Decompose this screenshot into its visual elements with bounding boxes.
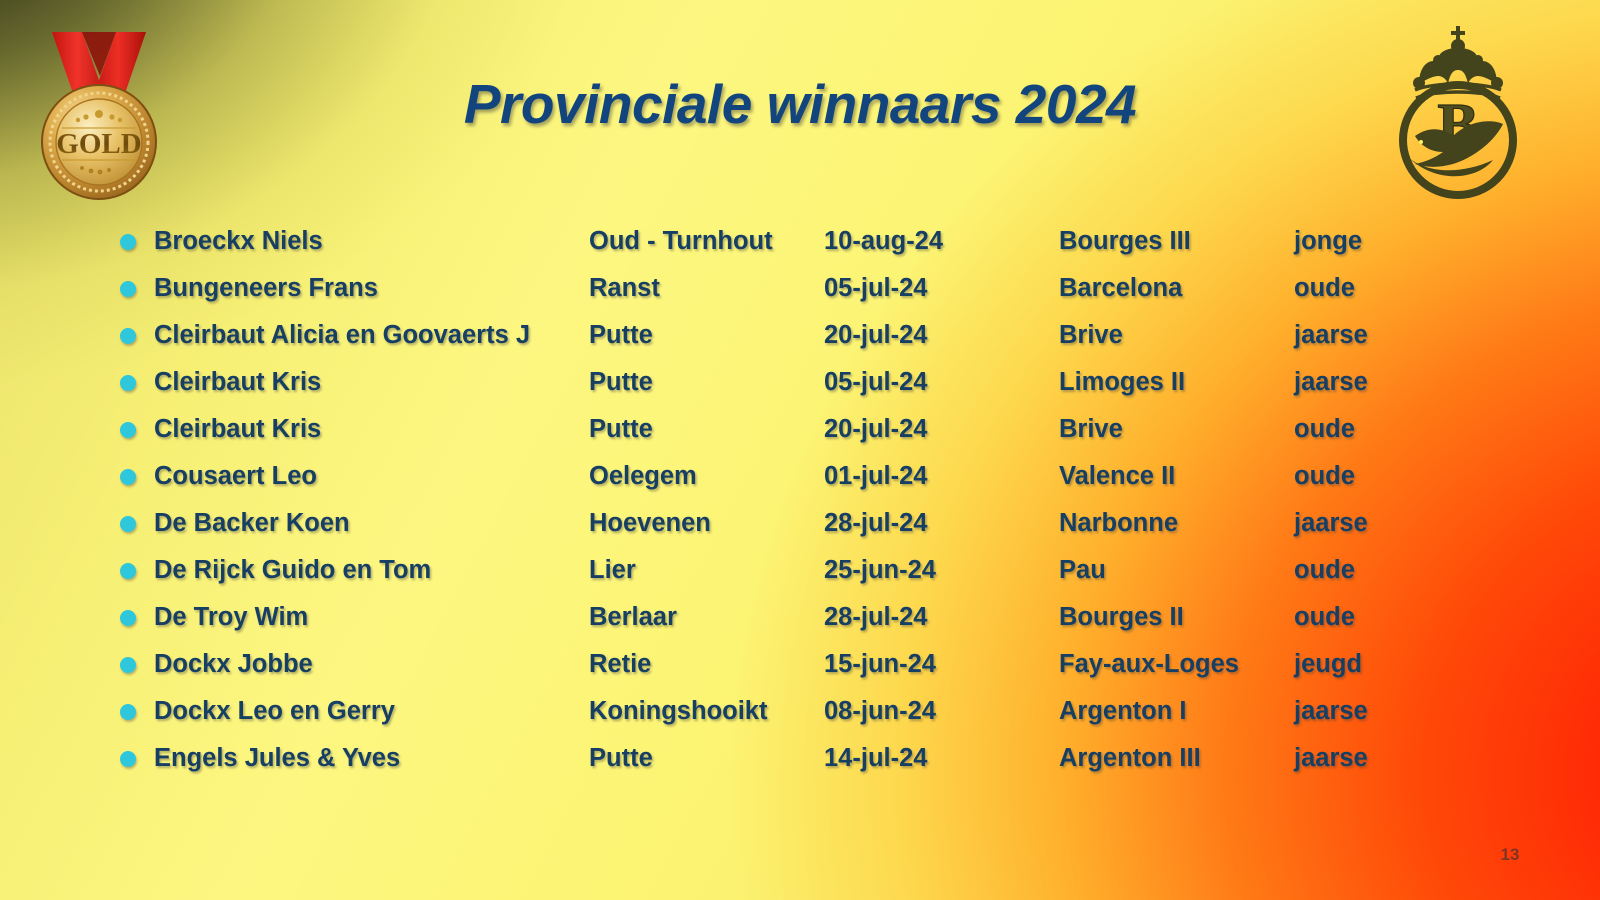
winners-list: Broeckx NielsOud - Turnhout10-aug-24Bour… bbox=[0, 222, 1600, 786]
row-date: 28-jul-24 bbox=[824, 598, 927, 636]
bullet-icon bbox=[120, 610, 136, 626]
row-name: Cleirbaut Kris bbox=[154, 410, 321, 448]
row-date: 20-jul-24 bbox=[824, 410, 927, 448]
bullet-icon bbox=[120, 563, 136, 579]
row-category: jaarse bbox=[1294, 692, 1368, 730]
row-name: Cleirbaut Alicia en Goovaerts J bbox=[154, 316, 530, 354]
row-category: oude bbox=[1294, 410, 1355, 448]
row-city: Koningshooikt bbox=[589, 692, 767, 730]
row-race: Argenton III bbox=[1059, 739, 1201, 777]
row-category: oude bbox=[1294, 457, 1355, 495]
row-category: oude bbox=[1294, 551, 1355, 589]
list-item: De Troy WimBerlaar28-jul-24Bourges IIoud… bbox=[0, 598, 1600, 645]
row-race: Bourges III bbox=[1059, 222, 1191, 260]
row-race: Narbonne bbox=[1059, 504, 1178, 542]
row-city: Oud - Turnhout bbox=[589, 222, 773, 260]
row-category: jaarse bbox=[1294, 363, 1368, 401]
row-category: jaarse bbox=[1294, 316, 1368, 354]
row-name: Broeckx Niels bbox=[154, 222, 323, 260]
row-city: Oelegem bbox=[589, 457, 697, 495]
bullet-icon bbox=[120, 422, 136, 438]
bullet-icon bbox=[120, 516, 136, 532]
row-city: Putte bbox=[589, 739, 653, 777]
row-name: Cousaert Leo bbox=[154, 457, 317, 495]
list-item: Dockx JobbeRetie15-jun-24Fay-aux-Logesje… bbox=[0, 645, 1600, 692]
bullet-icon bbox=[120, 375, 136, 391]
row-name: De Troy Wim bbox=[154, 598, 308, 636]
bullet-icon bbox=[120, 751, 136, 767]
row-category: jonge bbox=[1294, 222, 1362, 260]
list-item: Cousaert LeoOelegem01-jul-24Valence IIou… bbox=[0, 457, 1600, 504]
slide-canvas: GOLD B bbox=[0, 0, 1600, 900]
row-city: Hoevenen bbox=[589, 504, 711, 542]
row-date: 08-jun-24 bbox=[824, 692, 936, 730]
row-category: oude bbox=[1294, 598, 1355, 636]
row-category: oude bbox=[1294, 269, 1355, 307]
row-city: Putte bbox=[589, 363, 653, 401]
row-race: Bourges II bbox=[1059, 598, 1184, 636]
row-city: Retie bbox=[589, 645, 651, 683]
row-city: Putte bbox=[589, 410, 653, 448]
row-race: Pau bbox=[1059, 551, 1106, 589]
row-name: Bungeneers Frans bbox=[154, 269, 378, 307]
list-item: De Rijck Guido en TomLier25-jun-24Pauoud… bbox=[0, 551, 1600, 598]
bullet-icon bbox=[120, 657, 136, 673]
row-date: 28-jul-24 bbox=[824, 504, 927, 542]
row-race: Barcelona bbox=[1059, 269, 1182, 307]
row-name: De Backer Koen bbox=[154, 504, 350, 542]
row-date: 15-jun-24 bbox=[824, 645, 936, 683]
row-race: Brive bbox=[1059, 316, 1123, 354]
list-item: Cleirbaut KrisPutte05-jul-24Limoges IIja… bbox=[0, 363, 1600, 410]
row-race: Limoges II bbox=[1059, 363, 1185, 401]
row-name: Engels Jules & Yves bbox=[154, 739, 400, 777]
row-city: Putte bbox=[589, 316, 653, 354]
row-city: Ranst bbox=[589, 269, 660, 307]
list-item: Cleirbaut KrisPutte20-jul-24Briveoude bbox=[0, 410, 1600, 457]
row-date: 05-jul-24 bbox=[824, 363, 927, 401]
row-category: jeugd bbox=[1294, 645, 1362, 683]
row-date: 05-jul-24 bbox=[824, 269, 927, 307]
page-title: Provinciale winnaars 2024 bbox=[0, 72, 1600, 136]
row-date: 14-jul-24 bbox=[824, 739, 927, 777]
row-category: jaarse bbox=[1294, 504, 1368, 542]
row-name: Dockx Leo en Gerry bbox=[154, 692, 395, 730]
bullet-icon bbox=[120, 328, 136, 344]
row-race: Fay-aux-Loges bbox=[1059, 645, 1239, 683]
list-item: Cleirbaut Alicia en Goovaerts JPutte20-j… bbox=[0, 316, 1600, 363]
list-item: Engels Jules & YvesPutte14-jul-24Argento… bbox=[0, 739, 1600, 786]
list-item: Broeckx NielsOud - Turnhout10-aug-24Bour… bbox=[0, 222, 1600, 269]
row-race: Brive bbox=[1059, 410, 1123, 448]
row-name: Cleirbaut Kris bbox=[154, 363, 321, 401]
bullet-icon bbox=[120, 704, 136, 720]
row-date: 10-aug-24 bbox=[824, 222, 943, 260]
row-city: Lier bbox=[589, 551, 636, 589]
list-item: Bungeneers FransRanst05-jul-24Barcelonao… bbox=[0, 269, 1600, 316]
list-item: De Backer KoenHoevenen28-jul-24Narbonnej… bbox=[0, 504, 1600, 551]
row-date: 25-jun-24 bbox=[824, 551, 936, 589]
row-name: De Rijck Guido en Tom bbox=[154, 551, 431, 589]
bullet-icon bbox=[120, 234, 136, 250]
row-date: 01-jul-24 bbox=[824, 457, 927, 495]
row-city: Berlaar bbox=[589, 598, 677, 636]
page-number: 13 bbox=[1490, 845, 1530, 865]
list-item: Dockx Leo en GerryKoningshooikt08-jun-24… bbox=[0, 692, 1600, 739]
row-race: Argenton I bbox=[1059, 692, 1187, 730]
bullet-icon bbox=[120, 469, 136, 485]
row-race: Valence II bbox=[1059, 457, 1175, 495]
row-date: 20-jul-24 bbox=[824, 316, 927, 354]
bullet-icon bbox=[120, 281, 136, 297]
row-name: Dockx Jobbe bbox=[154, 645, 313, 683]
row-category: jaarse bbox=[1294, 739, 1368, 777]
